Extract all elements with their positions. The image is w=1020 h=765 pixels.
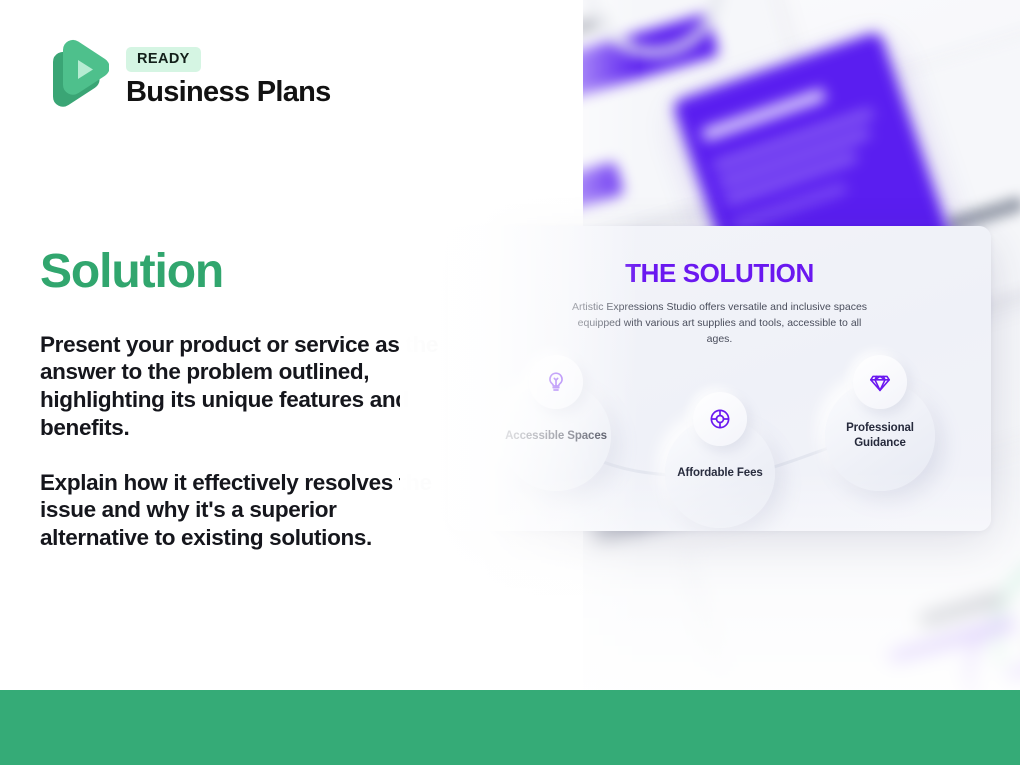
- feature-label: Professional Guidance: [825, 421, 935, 450]
- feature-item-professional-guidance[interactable]: Professional Guidance: [825, 381, 935, 491]
- diamond-icon: [853, 355, 907, 409]
- brand-lockup: READY Business Plans: [41, 38, 331, 116]
- slide-canvas: READY Business Plans Solution Present yo…: [0, 0, 1020, 765]
- preview-card-subtitle: Artistic Expressions Studio offers versa…: [568, 300, 871, 348]
- lightbulb-icon: [529, 355, 583, 409]
- lifebuoy-icon: [693, 392, 747, 446]
- preview-card-title: THE SOLUTION: [448, 258, 991, 289]
- feature-item-affordable-fees[interactable]: Affordable Fees: [665, 418, 775, 528]
- feature-item-accessible-spaces[interactable]: Accessible Spaces: [501, 381, 611, 491]
- footer-bar: [0, 690, 1020, 765]
- body-paragraph-1: Present your product or service as the a…: [40, 331, 440, 443]
- brand-title: Business Plans: [126, 78, 331, 107]
- solution-preview-card[interactable]: THE SOLUTION Artistic Expressions Studio…: [448, 226, 991, 531]
- feature-label: Affordable Fees: [677, 466, 762, 481]
- body-paragraph-2: Explain how it effectively resolves the …: [40, 469, 440, 553]
- page-title: Solution: [40, 248, 223, 296]
- ready-badge: READY: [126, 47, 201, 72]
- brand-text-block: READY Business Plans: [126, 47, 331, 107]
- play-triangle-logo-icon: [41, 38, 109, 116]
- feature-label: Accessible Spaces: [505, 429, 607, 444]
